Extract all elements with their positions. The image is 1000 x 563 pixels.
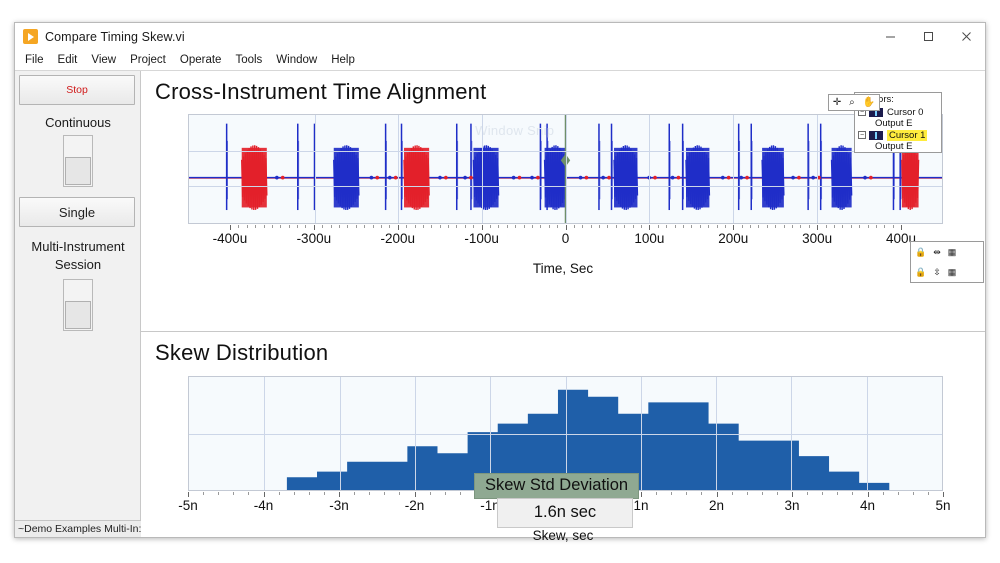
- continuous-switch[interactable]: [63, 135, 93, 187]
- axis-tick: [314, 225, 315, 230]
- axis-tick: [943, 492, 944, 497]
- axis-tick-label: 3n: [784, 498, 799, 513]
- axis-tick-label: -200u: [380, 231, 415, 246]
- cursor-row-1[interactable]: − Cursor 1: [855, 129, 941, 141]
- axis-minor-tick: [599, 225, 600, 228]
- axis-minor-tick: [686, 492, 687, 495]
- axis-minor-tick: [238, 225, 239, 228]
- axis-minor-tick: [297, 225, 298, 228]
- axis-minor-tick: [675, 225, 676, 228]
- axis-tick-label: 0: [562, 231, 570, 246]
- axis-tick-label: 2n: [709, 498, 724, 513]
- histogram-x-axis-title: Skew, sec: [141, 528, 985, 543]
- axis-minor-tick: [331, 225, 332, 228]
- menu-item-window[interactable]: Window: [276, 54, 317, 66]
- maximize-button[interactable]: [909, 23, 947, 50]
- menu-item-operate[interactable]: Operate: [180, 54, 222, 66]
- gridline-horizontal: [189, 186, 942, 187]
- menu-item-edit[interactable]: Edit: [58, 54, 78, 66]
- axis-minor-tick: [515, 225, 516, 228]
- axis-minor-tick: [473, 225, 474, 228]
- labview-window: Compare Timing Skew.vi FileEditViewProje…: [14, 22, 986, 538]
- histogram-panel: Skew Distribution Skew Std Deviation 1.6…: [141, 332, 985, 537]
- axis-minor-tick: [532, 225, 533, 228]
- axis-minor-tick: [272, 225, 273, 228]
- axis-tick: [188, 492, 189, 497]
- axis-minor-tick: [423, 225, 424, 228]
- axis-minor-tick: [445, 492, 446, 495]
- axis-minor-tick: [732, 492, 733, 495]
- continuous-switch-knob[interactable]: [65, 157, 91, 185]
- waveform-x-axis: -400u-300u-200u-100u0100u200u300u400u: [188, 225, 943, 255]
- gridline-horizontal: [189, 434, 942, 435]
- axis-minor-tick: [557, 225, 558, 228]
- axis-minor-tick: [683, 225, 684, 228]
- axis-minor-tick: [784, 225, 785, 228]
- axis-minor-tick: [656, 492, 657, 495]
- minimize-button[interactable]: [871, 23, 909, 50]
- axis-minor-tick: [440, 225, 441, 228]
- axis-minor-tick: [591, 225, 592, 228]
- cursor-name[interactable]: Cursor 1: [887, 130, 927, 141]
- cursor-name[interactable]: Cursor 0: [887, 107, 923, 118]
- axis-minor-tick: [767, 225, 768, 228]
- cursor-source-0: Output E: [855, 118, 941, 129]
- multi-session-switch-knob[interactable]: [65, 301, 91, 329]
- axis-minor-tick: [671, 492, 672, 495]
- axis-minor-tick: [834, 225, 835, 228]
- std-dev-value: 1.6n sec: [497, 498, 633, 528]
- multi-session-switch[interactable]: [63, 279, 93, 331]
- axis-minor-tick: [389, 225, 390, 228]
- axis-tick: [339, 492, 340, 497]
- axis-tick: [649, 225, 650, 230]
- y-lock-icon[interactable]: 🔒: [915, 268, 926, 277]
- axis-minor-tick: [898, 492, 899, 495]
- axis-minor-tick: [381, 225, 382, 228]
- cursor-source-1: Output E: [855, 141, 941, 152]
- axis-tick-label: -400u: [213, 231, 248, 246]
- axis-minor-tick: [354, 492, 355, 495]
- axis-minor-tick: [574, 225, 575, 228]
- menu-item-tools[interactable]: Tools: [235, 54, 262, 66]
- axis-minor-tick: [809, 225, 810, 228]
- cursor-expand-icon[interactable]: −: [858, 131, 866, 139]
- gridline-vertical: [315, 115, 316, 223]
- axis-tick: [566, 225, 567, 230]
- axis-minor-tick: [758, 225, 759, 228]
- zoom-tool-icon[interactable]: ⌕: [849, 98, 855, 108]
- axis-minor-tick: [279, 492, 280, 495]
- axis-minor-tick: [218, 492, 219, 495]
- axis-minor-tick: [691, 225, 692, 228]
- axis-minor-tick: [708, 225, 709, 228]
- axis-minor-tick: [465, 225, 466, 228]
- axis-tick: [230, 225, 231, 230]
- pan-tool-icon[interactable]: ✋: [863, 98, 875, 108]
- close-button[interactable]: [947, 23, 985, 50]
- gridline-vertical: [398, 115, 399, 223]
- menu-item-file[interactable]: File: [25, 54, 44, 66]
- axis-tick: [733, 225, 734, 230]
- x-lock-icon[interactable]: 🔒: [915, 248, 926, 257]
- axis-minor-tick: [884, 225, 885, 228]
- scale-legend[interactable]: 🔒 ⇹ ▦ 🔒 ⇳ ▦: [910, 241, 984, 283]
- axis-minor-tick: [540, 225, 541, 228]
- axis-minor-tick: [701, 492, 702, 495]
- axis-minor-tick: [582, 225, 583, 228]
- multi-session-label-line1: Multi-Instrument: [15, 239, 141, 254]
- axis-tick: [641, 492, 642, 497]
- status-text: ~Demo Examples Multi-In:: [15, 523, 141, 535]
- axis-minor-tick: [700, 225, 701, 228]
- axis-minor-tick: [430, 492, 431, 495]
- axis-minor-tick: [800, 225, 801, 228]
- axis-minor-tick: [762, 492, 763, 495]
- axis-tick-label: 5n: [935, 498, 950, 513]
- axis-minor-tick: [717, 225, 718, 228]
- window-content: Stop Continuous Single Multi-Instrument …: [15, 71, 985, 537]
- window-snip-watermark: Window Snip: [475, 123, 554, 138]
- axis-tick-label: 200u: [718, 231, 748, 246]
- waveform-x-axis-title: Time, Sec: [141, 261, 985, 276]
- axis-minor-tick: [549, 225, 550, 228]
- waveform-panel: Cross-Instrument Time Alignment Window S…: [141, 71, 985, 332]
- axis-minor-tick: [309, 492, 310, 495]
- axis-minor-tick: [289, 225, 290, 228]
- axis-tick: [398, 225, 399, 230]
- axis-minor-tick: [384, 492, 385, 495]
- menu-item-help[interactable]: Help: [331, 54, 355, 66]
- axis-minor-tick: [456, 225, 457, 228]
- axis-tick-label: -3n: [329, 498, 349, 513]
- axis-minor-tick: [203, 492, 204, 495]
- axis-minor-tick: [883, 492, 884, 495]
- axis-minor-tick: [913, 492, 914, 495]
- title-bar: Compare Timing Skew.vi: [15, 23, 985, 50]
- axis-minor-tick: [498, 225, 499, 228]
- axis-tick: [717, 492, 718, 497]
- axis-minor-tick: [616, 225, 617, 228]
- axis-minor-tick: [490, 225, 491, 228]
- axis-minor-tick: [747, 492, 748, 495]
- axis-minor-tick: [524, 225, 525, 228]
- axis-minor-tick: [641, 225, 642, 228]
- axis-tick-label: -4n: [254, 498, 274, 513]
- axis-minor-tick: [742, 225, 743, 228]
- axis-minor-tick: [893, 225, 894, 228]
- axis-minor-tick: [448, 225, 449, 228]
- axis-minor-tick: [280, 225, 281, 228]
- x-scale-row[interactable]: 🔒 ⇹ ▦: [911, 242, 983, 262]
- axis-minor-tick: [373, 225, 374, 228]
- axis-minor-tick: [324, 492, 325, 495]
- single-button[interactable]: Single: [19, 197, 135, 227]
- format-x-icon[interactable]: ▦: [948, 248, 957, 257]
- window-controls: [871, 23, 985, 50]
- axis-minor-tick: [305, 225, 306, 228]
- axis-minor-tick: [837, 492, 838, 495]
- axis-minor-tick: [406, 225, 407, 228]
- axis-minor-tick: [777, 492, 778, 495]
- menu-bar: FileEditViewProjectOperateToolsWindowHel…: [15, 50, 985, 71]
- axis-minor-tick: [658, 225, 659, 228]
- gridline-vertical: [649, 115, 650, 223]
- axis-minor-tick: [868, 225, 869, 228]
- axis-minor-tick: [322, 225, 323, 228]
- axis-tick-label: -5n: [178, 498, 198, 513]
- window-title: Compare Timing Skew.vi: [45, 30, 185, 44]
- histogram-title: Skew Distribution: [155, 340, 328, 366]
- gridline-vertical: [566, 115, 567, 223]
- axis-tick: [415, 492, 416, 497]
- std-dev-label: Skew Std Deviation: [474, 473, 639, 499]
- gridline-vertical: [817, 115, 818, 223]
- axis-minor-tick: [460, 492, 461, 495]
- axis-tick-label: -2n: [405, 498, 425, 513]
- axis-minor-tick: [247, 225, 248, 228]
- axis-minor-tick: [339, 225, 340, 228]
- axis-tick: [792, 492, 793, 497]
- axis-tick: [868, 492, 869, 497]
- gridline-vertical: [733, 115, 734, 223]
- multi-session-label-line2: Session: [15, 257, 141, 272]
- axis-minor-tick: [876, 225, 877, 228]
- axis-tick-label: 1n: [633, 498, 648, 513]
- waveform-plot-area[interactable]: Window Snip ✛ ⌕ ✋ Cursors: − Cursor 0 Ou…: [188, 114, 943, 224]
- axis-minor-tick: [859, 225, 860, 228]
- axis-minor-tick: [347, 225, 348, 228]
- axis-tick-label: 300u: [802, 231, 832, 246]
- axis-minor-tick: [415, 225, 416, 228]
- status-bar: ~Demo Examples Multi-In:: [15, 520, 141, 537]
- axis-minor-tick: [364, 225, 365, 228]
- axis-minor-tick: [775, 225, 776, 228]
- axis-tick: [901, 225, 902, 230]
- axis-tick: [482, 225, 483, 230]
- axis-minor-tick: [431, 225, 432, 228]
- axis-minor-tick: [807, 492, 808, 495]
- axis-tick: [264, 492, 265, 497]
- axis-minor-tick: [928, 492, 929, 495]
- gridline-vertical: [482, 115, 483, 223]
- axis-minor-tick: [826, 225, 827, 228]
- axis-minor-tick: [255, 225, 256, 228]
- menu-item-view[interactable]: View: [91, 54, 116, 66]
- axis-minor-tick: [356, 225, 357, 228]
- cursor-tool-icon[interactable]: ✛: [833, 98, 841, 108]
- axis-tick-label: -300u: [297, 231, 332, 246]
- axis-minor-tick: [842, 225, 843, 228]
- axis-tick-label: 100u: [634, 231, 664, 246]
- axis-minor-tick: [822, 492, 823, 495]
- axis-tick-label: 4n: [860, 498, 875, 513]
- autoscale-y-icon[interactable]: ⇳: [933, 268, 941, 277]
- axis-minor-tick: [607, 225, 608, 228]
- format-y-icon[interactable]: ▦: [948, 268, 957, 277]
- axis-minor-tick: [294, 492, 295, 495]
- axis-minor-tick: [725, 225, 726, 228]
- axis-minor-tick: [507, 225, 508, 228]
- axis-minor-tick: [852, 492, 853, 495]
- menu-item-project[interactable]: Project: [130, 54, 166, 66]
- axis-minor-tick: [233, 492, 234, 495]
- stop-button[interactable]: Stop: [19, 75, 135, 105]
- axis-minor-tick: [624, 225, 625, 228]
- axis-minor-tick: [666, 225, 667, 228]
- gridline-horizontal: [189, 151, 942, 152]
- axis-minor-tick: [264, 225, 265, 228]
- control-sidebar: Stop Continuous Single Multi-Instrument …: [15, 71, 141, 537]
- labview-vi-icon: [23, 29, 38, 44]
- autoscale-x-icon[interactable]: ⇹: [933, 248, 941, 257]
- axis-minor-tick: [750, 225, 751, 228]
- waveform-title: Cross-Instrument Time Alignment: [155, 79, 486, 105]
- axis-tick: [817, 225, 818, 230]
- axis-minor-tick: [633, 225, 634, 228]
- axis-minor-tick: [399, 492, 400, 495]
- cursor-swatch: [869, 131, 883, 140]
- y-scale-row[interactable]: 🔒 ⇳ ▦: [911, 262, 983, 282]
- axis-minor-tick: [851, 225, 852, 228]
- axis-minor-tick: [248, 492, 249, 495]
- graph-palette[interactable]: ✛ ⌕ ✋: [828, 94, 880, 111]
- axis-minor-tick: [369, 492, 370, 495]
- axis-minor-tick: [792, 225, 793, 228]
- continuous-label: Continuous: [15, 115, 141, 130]
- axis-tick-label: -100u: [464, 231, 499, 246]
